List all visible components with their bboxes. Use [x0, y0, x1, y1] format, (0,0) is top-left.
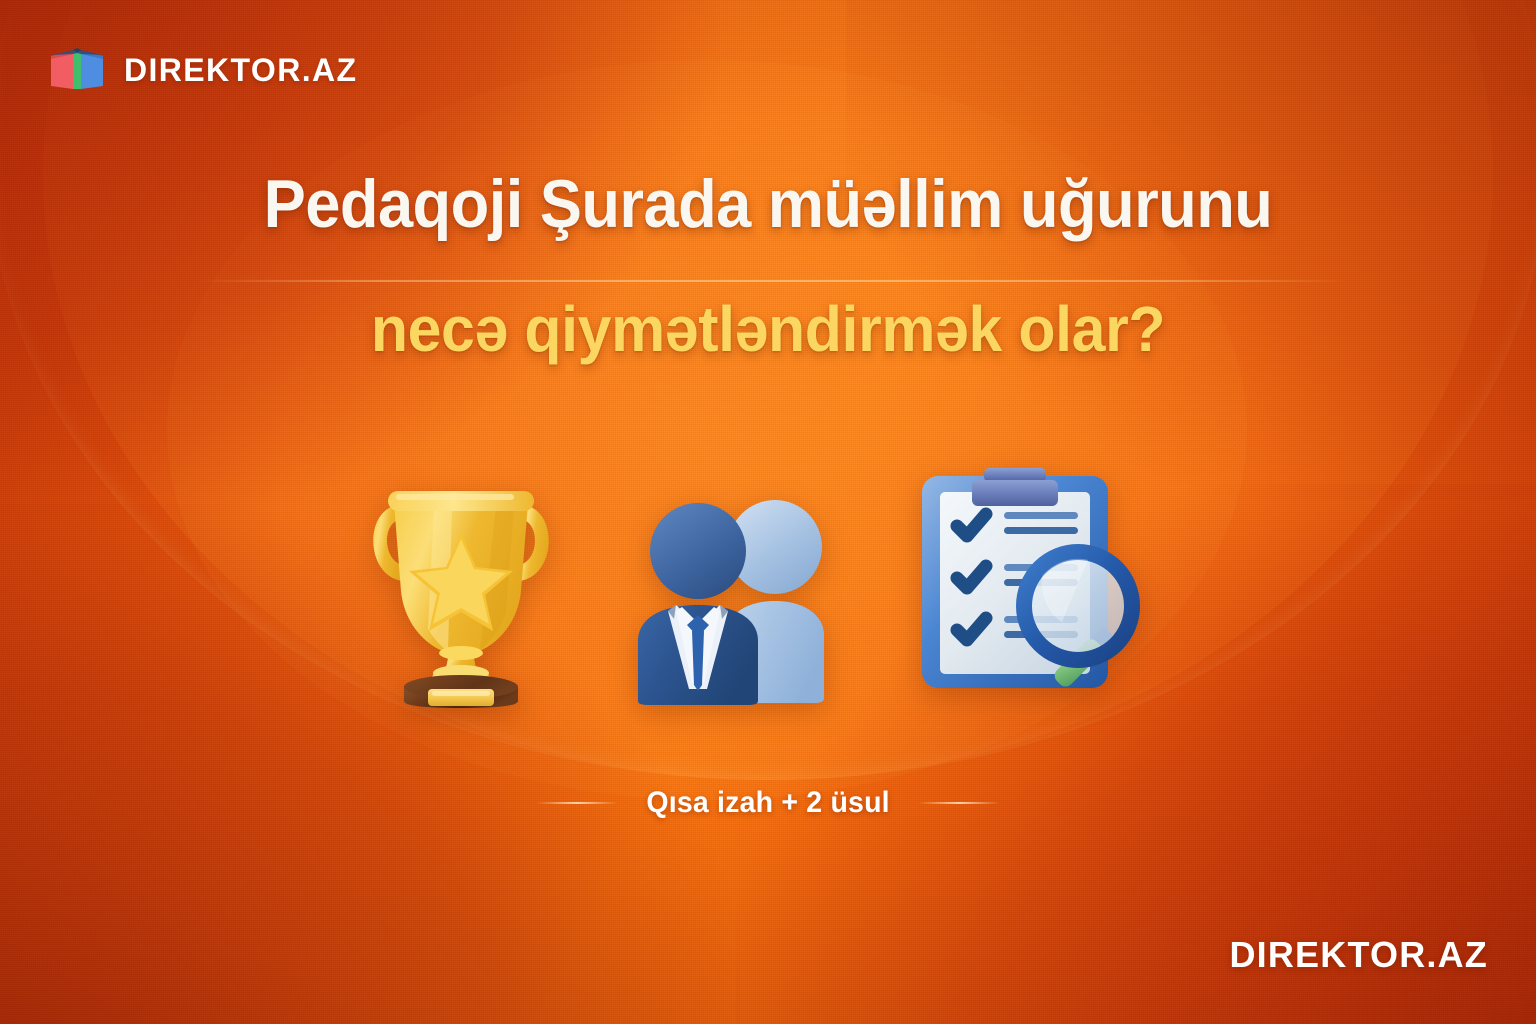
- checklist-magnifier-icon: [912, 450, 1180, 708]
- poster-canvas: DIREKTOR.AZ Pedaqoji Şurada müəllim uğur…: [0, 0, 1536, 1024]
- open-book-icon: [48, 45, 106, 95]
- subtitle-block: Qısa izah + 2 üsul: [0, 786, 1536, 820]
- brand-logo[interactable]: DIREKTOR.AZ: [48, 45, 357, 95]
- brand-logo-text: DIREKTOR.AZ: [124, 54, 357, 86]
- trophy-icon: [356, 463, 566, 708]
- headline-line-1: Pedaqoji Şurada müəllim uğurunu: [54, 168, 1482, 240]
- watermark-brand: DIREKTOR.AZ: [1229, 934, 1488, 976]
- subtitle-text: Qısa izah + 2 üsul: [646, 786, 889, 820]
- headline-block: Pedaqoji Şurada müəllim uğurunu necə qiy…: [0, 168, 1536, 364]
- subtitle-rule-left: [536, 802, 618, 804]
- headline-line-2: necə qiymətləndirmək olar?: [38, 240, 1497, 364]
- illustration-row: [0, 448, 1536, 708]
- subtitle-rule-right: [918, 802, 1000, 804]
- two-people-icon: [624, 493, 854, 708]
